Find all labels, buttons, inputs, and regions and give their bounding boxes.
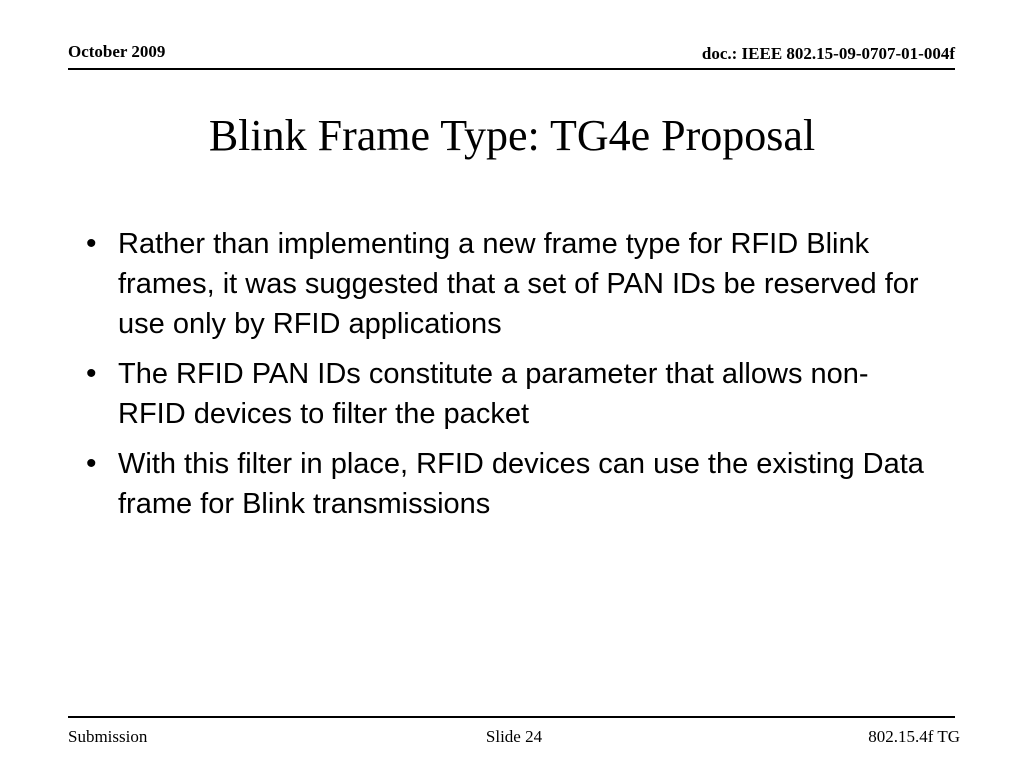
bullet-list: • Rather than implementing a new frame t… [84, 224, 944, 534]
page-title: Blink Frame Type: TG4e Proposal [62, 110, 962, 162]
footer-divider [68, 716, 955, 718]
list-item-label: Rather than implementing a new frame typ… [118, 224, 933, 344]
footer-group-label: 802.15.4f TG [868, 726, 960, 748]
slide-canvas: October 2009 doc.: IEEE 802.15-09-0707-0… [0, 0, 1024, 768]
list-item: • The RFID PAN IDs constitute a paramete… [84, 354, 944, 434]
list-item-label: The RFID PAN IDs constitute a parameter … [118, 354, 933, 434]
list-item: • Rather than implementing a new frame t… [84, 224, 944, 344]
header-document-id: doc.: IEEE 802.15-09-0707-01-004f [702, 44, 955, 64]
list-item: • With this filter in place, RFID device… [84, 444, 944, 524]
bullet-point-icon: • [84, 354, 118, 394]
footer-slide-number: Slide 24 [68, 726, 960, 748]
bullet-point-icon: • [84, 224, 118, 264]
list-item-label: With this filter in place, RFID devices … [118, 444, 933, 524]
header-divider [68, 68, 955, 70]
slide-footer: Submission Slide 24 802.15.4f TG [68, 726, 960, 750]
bullet-point-icon: • [84, 444, 118, 484]
header-date: October 2009 [68, 42, 165, 62]
slide-header: October 2009 doc.: IEEE 802.15-09-0707-0… [68, 42, 955, 70]
